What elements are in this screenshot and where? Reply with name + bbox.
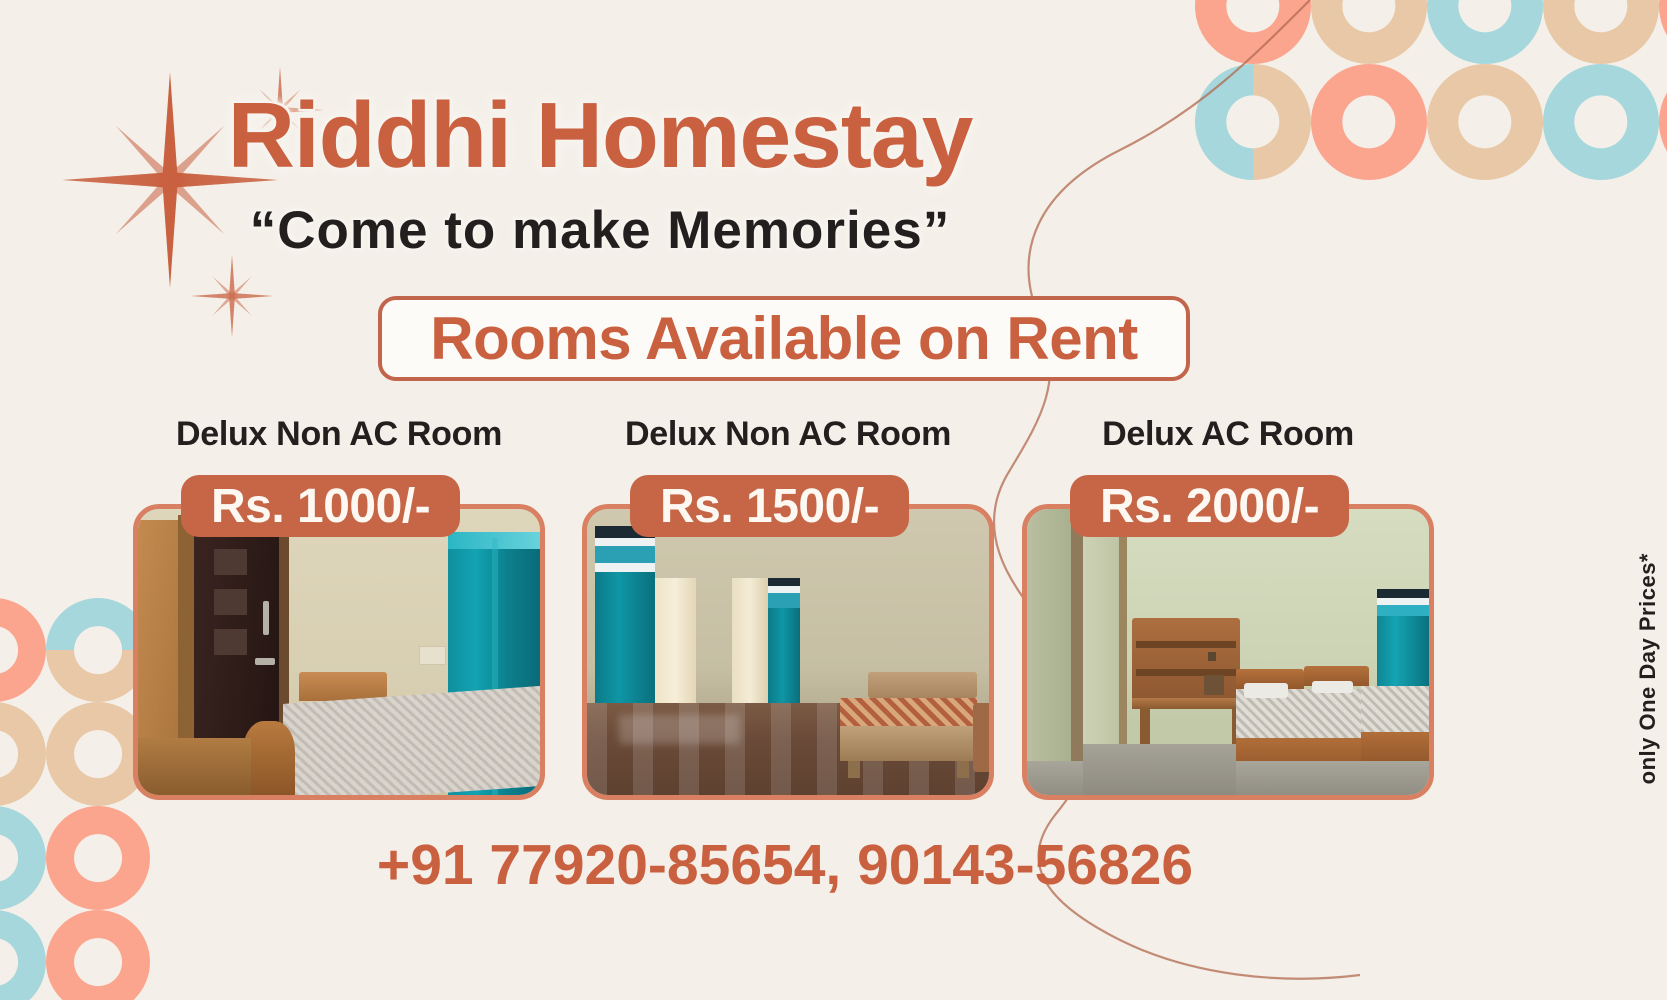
sparkle-icon-small-bottom	[186, 250, 278, 342]
room-card-2-title: Delux Non AC Room	[582, 415, 994, 454]
room-card-2-price: Rs. 1500/-	[660, 479, 879, 534]
room-card-2-photo	[582, 504, 994, 800]
decorative-ring-tr-1-3	[1543, 64, 1659, 180]
room-card-3-price: Rs. 2000/-	[1100, 479, 1319, 534]
decorative-ring-tr-1-0	[1195, 64, 1311, 180]
decorative-ring-tr-0-2	[1427, 0, 1543, 64]
room-card-3-photo	[1022, 504, 1434, 800]
decorative-ring-tr-0-3	[1543, 0, 1659, 64]
room-card-2-price-pill: Rs. 1500/-	[630, 475, 909, 537]
ring-quadrant	[1659, 64, 1667, 122]
price-footnote: only One Day Prices*	[1635, 553, 1661, 784]
contact-phone[interactable]: +91 77920-85654, 90143-56826	[0, 832, 1570, 898]
room-cards: Delux Non AC Room	[0, 415, 1450, 815]
room-card-1-price: Rs. 1000/-	[211, 479, 430, 534]
room-card-1-price-pill: Rs. 1000/-	[181, 475, 460, 537]
decorative-ring-tr-1-1	[1311, 64, 1427, 180]
decorative-ring-bl-3-1	[46, 910, 150, 1000]
rooms-available-banner-label: Rooms Available on Rent	[430, 304, 1138, 373]
decorative-ring-tr-1-2	[1427, 64, 1543, 180]
room-card-1-photo	[133, 504, 545, 800]
room-card-3-title: Delux AC Room	[1022, 415, 1434, 454]
homestay-flyer: Riddhi Homestay “Come to make Memories” …	[0, 0, 1667, 1000]
decorative-ring-bl-3-0	[0, 910, 46, 1000]
decorative-ring-tr-1-4	[1659, 64, 1667, 180]
page-title: Riddhi Homestay	[0, 82, 1200, 189]
ring-quadrant	[1659, 122, 1667, 180]
room-card-3-price-pill: Rs. 2000/-	[1070, 475, 1349, 537]
ring-quadrant	[1659, 6, 1667, 64]
decorative-ring-tr-0-4	[1659, 0, 1667, 64]
decorative-ring-tr-0-0	[1195, 0, 1311, 64]
decorative-ring-tr-0-1	[1311, 0, 1427, 64]
rooms-available-banner: Rooms Available on Rent	[378, 296, 1190, 381]
decorative-rings-top-right	[1195, 0, 1667, 178]
room-card-1-title: Delux Non AC Room	[133, 415, 545, 454]
tagline: “Come to make Memories”	[0, 200, 1200, 261]
ring-hole	[74, 938, 122, 986]
